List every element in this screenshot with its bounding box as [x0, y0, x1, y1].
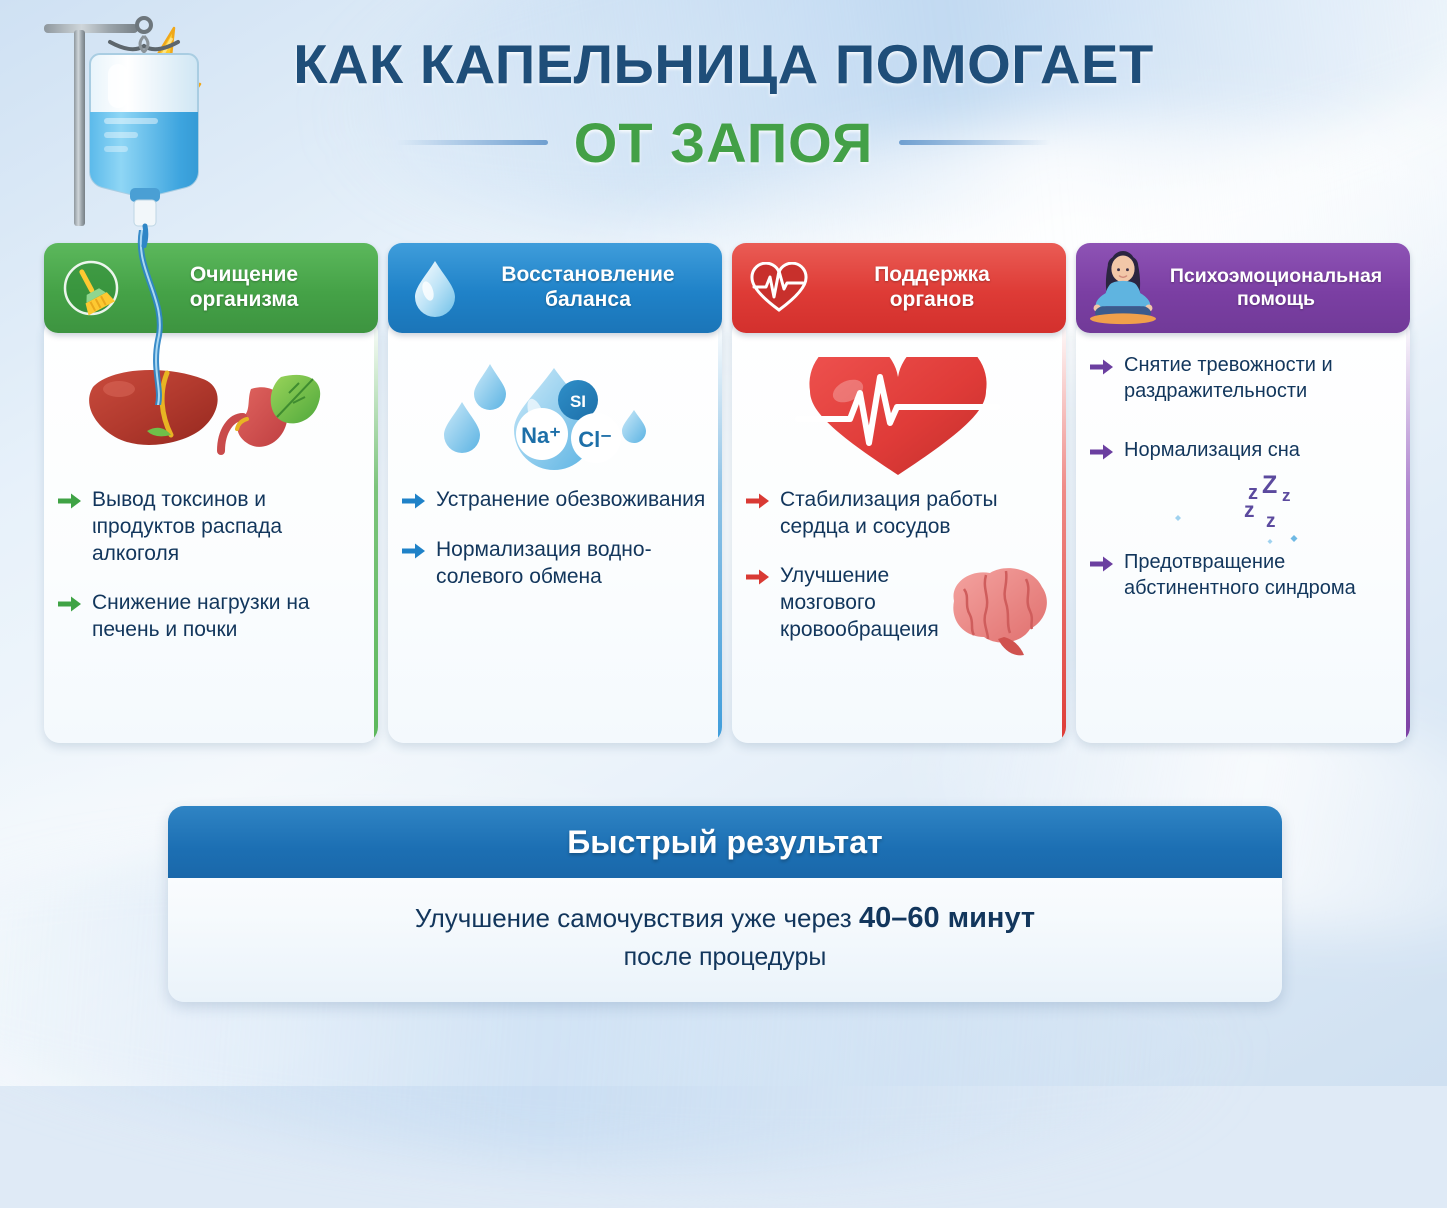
banner-line-1-prefix: Улучшение самочувствия уже через: [415, 903, 859, 933]
card-header-organs: Поддержка органов: [732, 243, 1066, 333]
bullet-item: Снижение нагрузки на печень и почки: [58, 590, 362, 644]
bullet-text: Снятие тревожности и раздражительности: [1124, 353, 1394, 404]
banner-body: Улучшение самочувствия уже через 40–60 м…: [168, 878, 1282, 972]
bullet-text: Устранение обезвоживания: [436, 487, 705, 514]
card-title-balance: Восстановление баланса: [468, 263, 712, 312]
card-title-organs: Поддержка органов: [812, 263, 1056, 312]
bullet-item: Нормализация сна: [1090, 438, 1394, 466]
card-title-line2: помощь: [1237, 288, 1315, 310]
arrow-right-icon: [1090, 358, 1114, 381]
arrow-right-icon: [402, 492, 426, 515]
bullet-item: Нормализация водно-солевого обмена: [402, 537, 706, 591]
bullet-text: Нормализация сна: [1124, 438, 1300, 464]
broom-cleaning-icon: [58, 259, 124, 317]
iv-drip-bag-icon: [22, 8, 232, 253]
card-title-line1: Поддержка: [874, 263, 990, 286]
bullet-text: Нормализация водно-солевого обмена: [436, 537, 706, 591]
divider-right: [899, 140, 1051, 145]
card-body-psychoemotional: Снятие тревожности и раздражительности Н…: [1076, 317, 1410, 743]
card-title-psychoemotional: Психоэмоциональная помощь: [1156, 265, 1400, 311]
card-organs[interactable]: Поддержка органов: [732, 243, 1066, 743]
svg-text:Z: Z: [1262, 473, 1277, 499]
bullet-text: Предотвращение абстинентного синдрома: [1124, 550, 1394, 601]
electrolyte-water-drops-illustration: SI Na⁺ Cl⁻: [402, 357, 706, 481]
banner-title: Быстрый результат: [567, 824, 882, 861]
card-body-organs: Стабилизация работы сердца и сосудов Улу…: [732, 317, 1066, 743]
arrow-right-icon: [58, 595, 82, 618]
svg-text:Cl⁻: Cl⁻: [578, 427, 612, 452]
card-cleansing[interactable]: Очищение организма: [44, 243, 378, 743]
card-title-line2: органов: [890, 288, 975, 311]
svg-text:z: z: [1244, 499, 1255, 522]
fast-result-banner[interactable]: Быстрый результат Улучшение самочувствия…: [168, 806, 1282, 1002]
bullet-text: Вывод токсинов и ιпродуктов распада алко…: [92, 487, 362, 568]
arrow-right-icon: [1090, 555, 1114, 578]
iv-tube-line: [128, 230, 208, 405]
card-balance[interactable]: Восстановление баланса: [388, 243, 722, 743]
card-body-cleansing: Вывод токсинов и ιпродуктов распада алко…: [44, 317, 378, 743]
svg-text:Na⁺: Na⁺: [521, 423, 561, 448]
arrow-right-icon: [58, 492, 82, 515]
card-psychoemotional[interactable]: Психоэмоциональная помощь Снятие тревожн…: [1076, 243, 1410, 743]
liver-kidney-leaf-illustration: [58, 357, 362, 481]
svg-text:z: z: [1282, 486, 1291, 505]
bullet-text: Стабилизация работы сердца и сосудов: [780, 487, 1050, 541]
heart-pulse-icon: [746, 262, 812, 314]
bullet-item: Вывод токсинов и ιпродуктов распада алко…: [58, 487, 362, 568]
banner-line-2: после процедуры: [208, 943, 1242, 972]
card-title-line1: Психоэмоциональная: [1170, 265, 1382, 287]
arrow-right-icon: [746, 568, 770, 591]
card-body-balance: SI Na⁺ Cl⁻ Устранение обезвоживания: [388, 317, 722, 743]
sleeping-moon-zzz-illustration: z Z z z z: [1090, 472, 1394, 550]
bullet-text: Улучшение мозгового кровообращеιия: [780, 563, 930, 644]
water-drop-icon: [402, 259, 468, 317]
card-title-line2: баланса: [545, 288, 631, 311]
bullet-item: Предотвращение абстинентного синдрома: [1090, 550, 1394, 601]
card-header-balance: Восстановление баланса: [388, 243, 722, 333]
banner-line-1: Улучшение самочувствия уже через 40–60 м…: [208, 902, 1242, 935]
card-title-line1: Восстановление: [501, 263, 674, 286]
bullet-item: Снятие тревожности и раздражительности: [1090, 353, 1394, 404]
brain-illustration: [936, 559, 1056, 668]
bullet-item: Стабилизация работы сердца и сосудов: [746, 487, 1050, 541]
arrow-right-icon: [1090, 443, 1114, 466]
banner-highlight: 40–60 минут: [859, 902, 1035, 934]
bullet-item: Улучшение мозгового кровообращеιия: [746, 563, 1050, 644]
arrow-right-icon: [746, 492, 770, 515]
bullet-list-balance: Устранение обезвоживания Нормализация во…: [402, 487, 706, 591]
bullet-list-psychoemotional: Снятие тревожности и раздражительности Н…: [1090, 353, 1394, 601]
page-title-secondary: ОТ ЗАПОЯ: [574, 110, 873, 175]
benefit-cards-row: Очищение организма: [44, 243, 1414, 743]
bullet-list-organs: Стабилизация работы сердца и сосудов Улу…: [746, 487, 1050, 643]
card-header-cleansing: Очищение организма: [44, 243, 378, 333]
svg-text:z: z: [1266, 511, 1276, 532]
heart-with-heartbeat-illustration: [746, 357, 1050, 481]
bullet-item: Устранение обезвоживания: [402, 487, 706, 515]
card-header-psychoemotional: Психоэмоциональная помощь: [1076, 243, 1410, 333]
divider-left: [396, 140, 548, 145]
arrow-right-icon: [402, 542, 426, 565]
bullet-list-cleansing: Вывод токсинов и ιпродуктов распада алко…: [58, 487, 362, 643]
meditating-woman-icon: [1090, 249, 1156, 327]
bullet-text: Снижение нагрузки на печень и почки: [92, 590, 362, 644]
banner-header: Быстрый результат: [168, 806, 1282, 878]
svg-text:SI: SI: [570, 392, 586, 411]
